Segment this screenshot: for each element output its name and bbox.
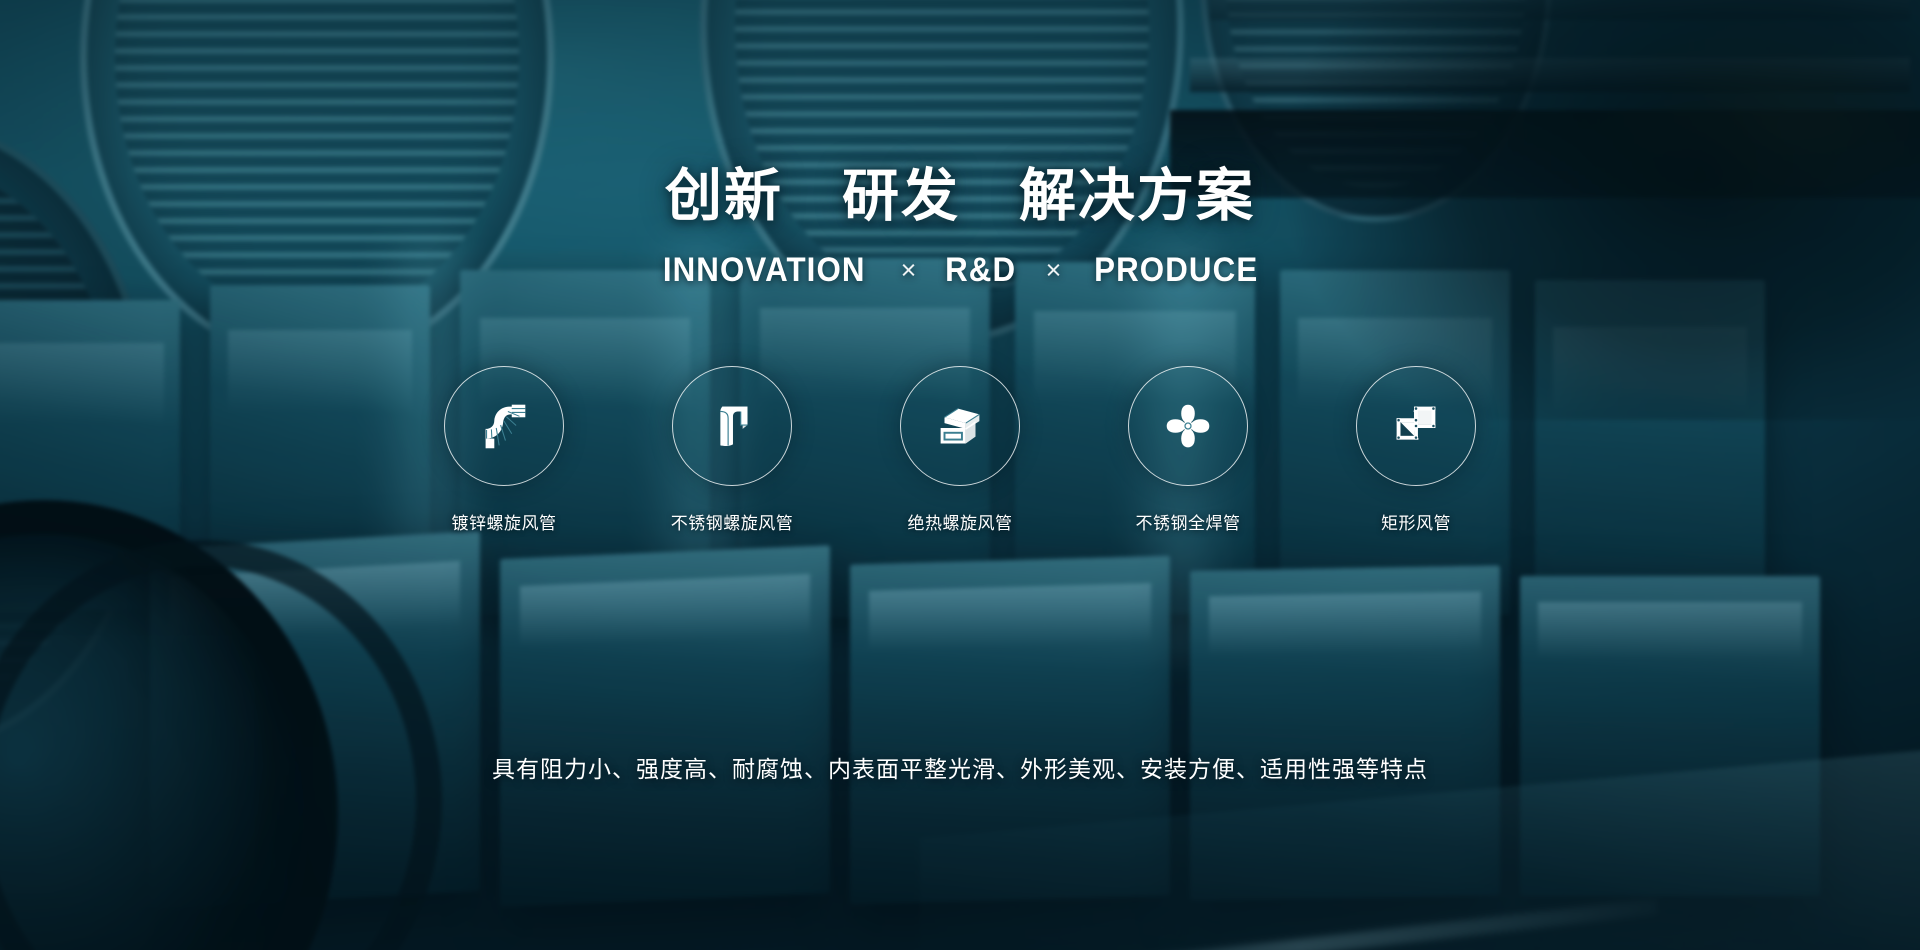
- fan-blade-icon: [1157, 395, 1219, 457]
- product-label-5: 矩形风管: [1381, 509, 1451, 534]
- insulated-duct-icon: [929, 395, 991, 457]
- product-label-1: 镀锌螺旋风管: [452, 509, 557, 534]
- product-icon-circle-3[interactable]: [900, 366, 1020, 486]
- hero-banner: 创新 研发 解决方案 INNOVATION × R&D × PRODUCE: [0, 0, 1920, 950]
- feature-caption: 具有阻力小、强度高、耐腐蚀、内表面平整光滑、外形美观、安装方便、适用性强等特点: [0, 750, 1920, 784]
- product-icon-circle-4[interactable]: [1128, 366, 1248, 486]
- subtitle-separator-2: ×: [1046, 255, 1062, 286]
- spiral-duct-elbow-icon: [473, 395, 535, 457]
- subtitle-word-innovation: INNOVATION: [663, 251, 866, 290]
- product-label-2: 不锈钢螺旋风管: [671, 509, 794, 534]
- subtitle: INNOVATION × R&D × PRODUCE: [654, 251, 1266, 290]
- product-icon-row: 镀锌螺旋风管 不锈钢螺旋风管: [412, 366, 1508, 534]
- page-title: 创新 研发 解决方案: [665, 168, 1255, 225]
- product-item-stainless-spiral-duct[interactable]: 不锈钢螺旋风管: [640, 366, 824, 534]
- product-item-stainless-welded-pipe[interactable]: 不锈钢全焊管: [1096, 366, 1280, 534]
- curved-duct-elbow-icon: [701, 395, 763, 457]
- rectangular-duct-icon: [1385, 395, 1447, 457]
- product-item-insulated-spiral-duct[interactable]: 绝热螺旋风管: [868, 366, 1052, 534]
- subtitle-word-produce: PRODUCE: [1095, 251, 1259, 290]
- product-icon-circle-2[interactable]: [672, 366, 792, 486]
- subtitle-word-rd: R&D: [945, 251, 1016, 290]
- product-label-3: 绝热螺旋风管: [908, 509, 1013, 534]
- banner-content: 创新 研发 解决方案 INNOVATION × R&D × PRODUCE: [0, 0, 1920, 950]
- subtitle-separator-1: ×: [901, 255, 917, 286]
- product-icon-circle-5[interactable]: [1356, 366, 1476, 486]
- product-item-galvanized-spiral-duct[interactable]: 镀锌螺旋风管: [412, 366, 596, 534]
- product-item-rectangular-duct[interactable]: 矩形风管: [1324, 366, 1508, 534]
- product-label-4: 不锈钢全焊管: [1136, 509, 1241, 534]
- product-icon-circle-1[interactable]: [444, 366, 564, 486]
